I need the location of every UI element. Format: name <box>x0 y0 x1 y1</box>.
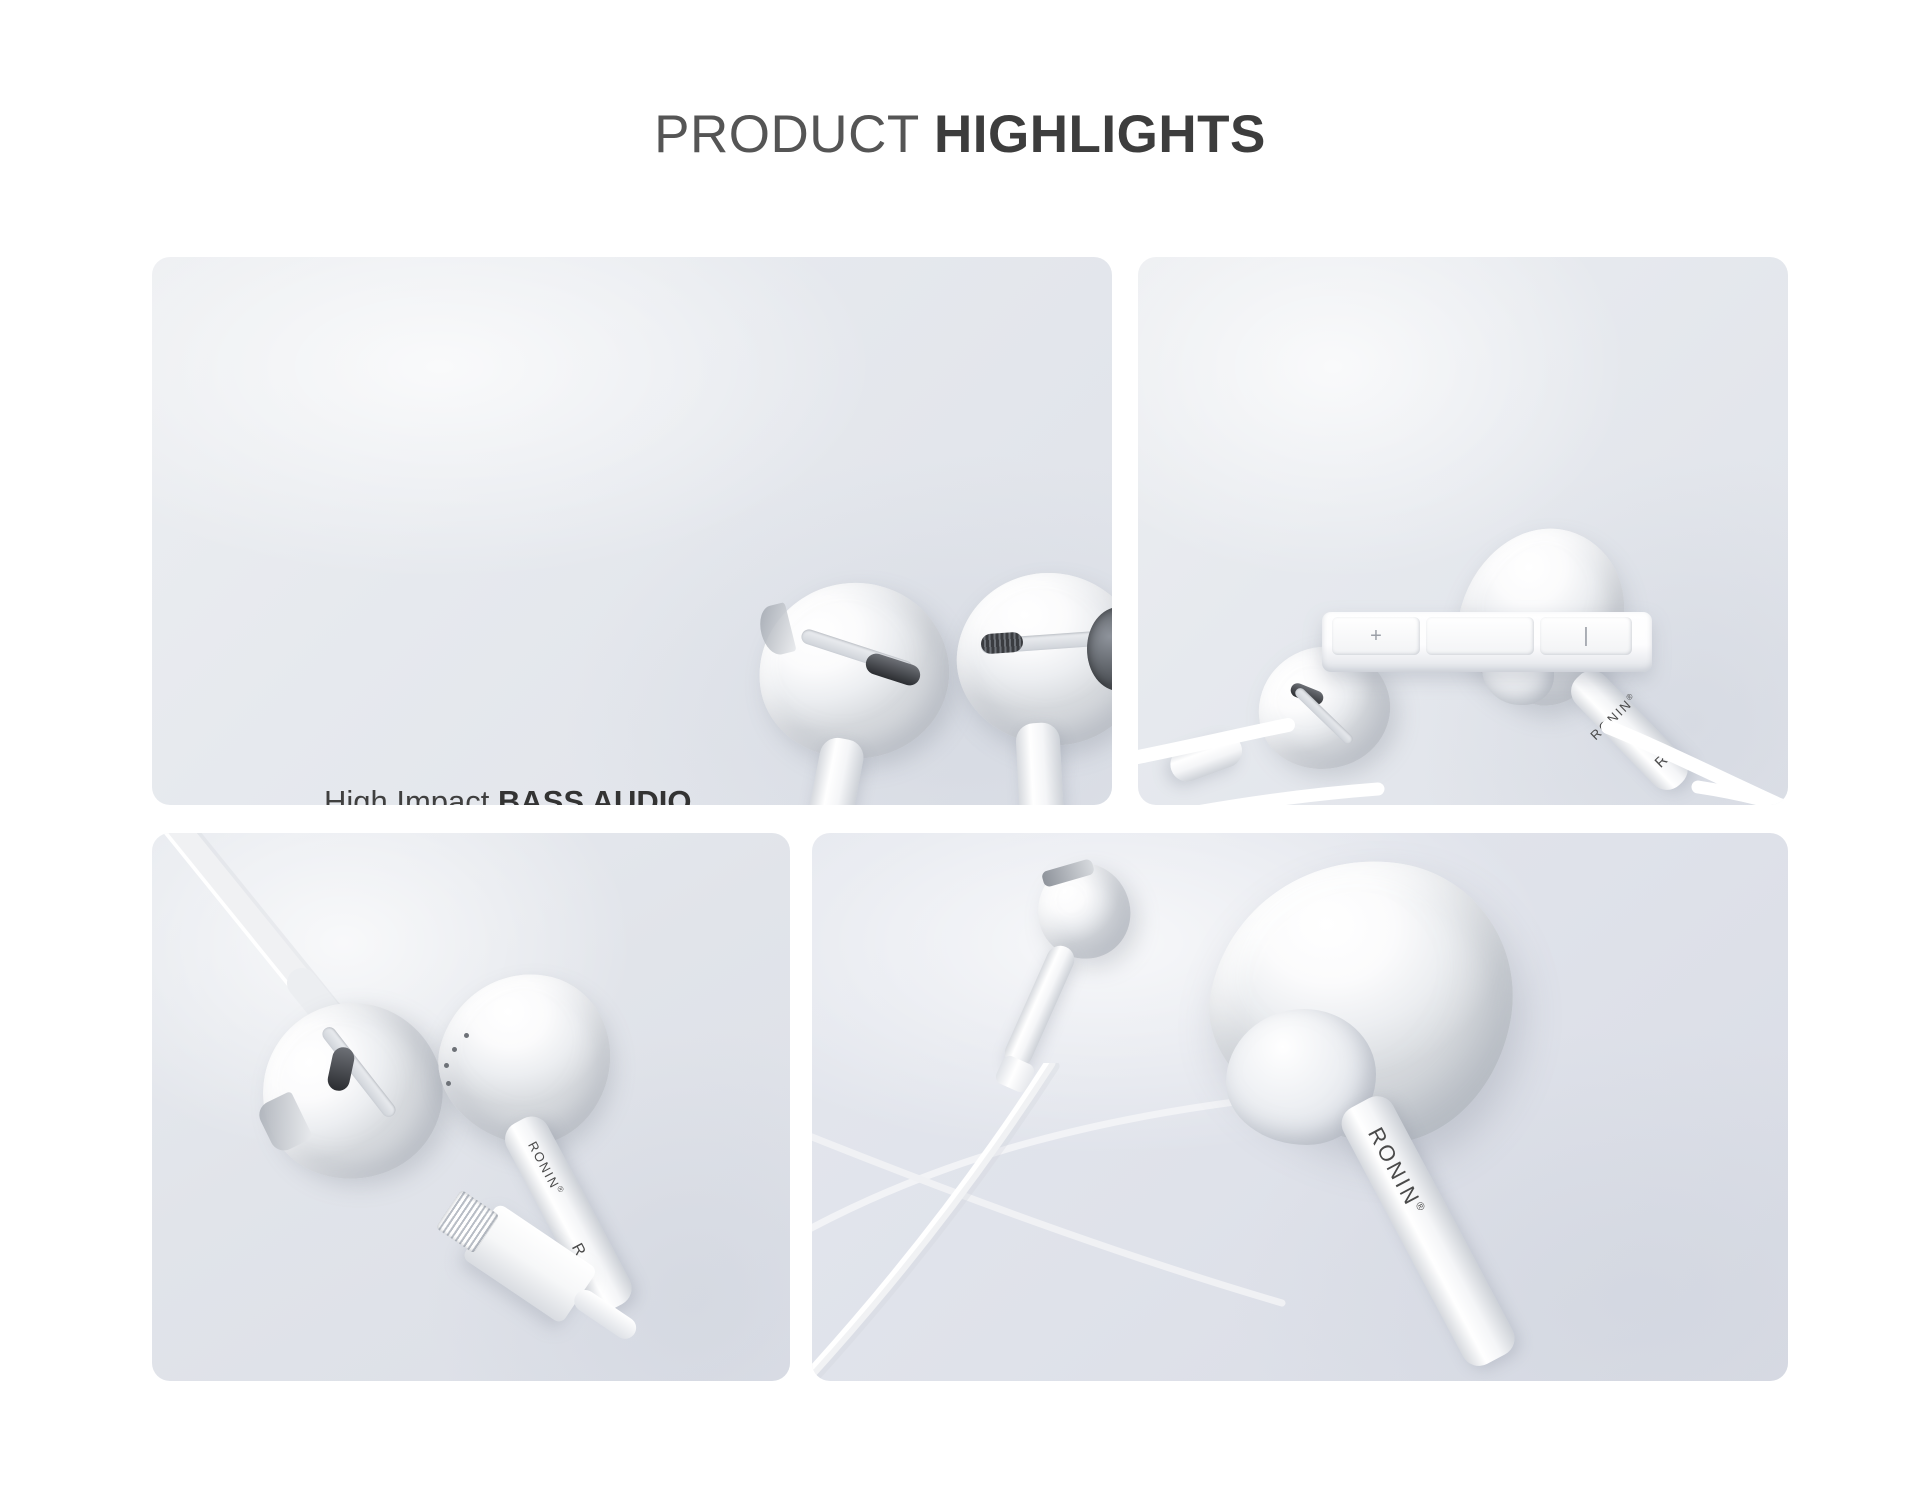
mic-card-earbud-small-stem <box>1166 729 1247 786</box>
mic-card-earbud-small-groove <box>1293 686 1355 746</box>
mic-card-brand-mark: RONIN® <box>1587 690 1641 743</box>
sleek-card-earbud-hero: RONIN® <box>1152 859 1672 1379</box>
lightning-card-top-cable <box>152 833 492 1133</box>
remote-center-button[interactable] <box>1426 617 1534 655</box>
earbud-right-groove <box>981 631 1100 654</box>
lightning-card-earbud-b-stem <box>499 1110 638 1317</box>
lightning-connector-body <box>462 1203 598 1325</box>
earbud-right-graphic <box>937 573 1112 805</box>
sleek-card-earbud-small-collar <box>993 1053 1036 1094</box>
mic-card-earbud-large-lobe <box>1482 635 1554 705</box>
sleek-card-brand-reg: ® <box>1413 1200 1429 1215</box>
earbud-left-speaker-slot <box>863 651 923 688</box>
lightning-card-channel-mark: R <box>567 1241 588 1260</box>
mic-card-earbud-large-stem <box>1564 663 1696 797</box>
sleek-card-background-cables <box>812 833 1788 1381</box>
lightning-card-brand-mark: RONIN® <box>525 1139 567 1199</box>
mic-card-earbud-small-slot <box>1289 681 1326 707</box>
sleek-card-brand-text: RONIN <box>1363 1123 1425 1211</box>
mic-card-earbud-small <box>1228 647 1488 805</box>
mic-card-brand-text: RONIN <box>1587 696 1635 743</box>
mic-card-earbud-large: RONIN® R <box>1438 527 1768 805</box>
mic-card-earbud-small-head <box>1244 631 1405 785</box>
page-title-bold: HIGHLIGHTS <box>934 105 1266 164</box>
lightning-card-earbud-a-edge <box>255 1091 314 1155</box>
page-title-light: PRODUCT <box>654 105 934 164</box>
remote-volume-up-label: + <box>1370 625 1382 648</box>
lightning-card-earbud-a-head <box>236 976 469 1207</box>
earbud-left-graphic <box>737 583 1037 805</box>
earbud-right-stem <box>1015 722 1069 805</box>
card-sleek-design: RONIN® Sleek and Minimal Design <box>812 833 1788 1381</box>
mic-card-channel-mark: R <box>1652 752 1672 772</box>
bass-audio-text-block: High Impact BASS AUDIO 10mm Sound Driver <box>324 784 684 805</box>
remote-volume-down-label: | <box>1583 625 1588 648</box>
remote-volume-up-button[interactable]: + <box>1332 617 1420 655</box>
lightning-connector-cable <box>570 1286 640 1343</box>
earbud-left-mesh-edge <box>755 602 796 658</box>
earbud-left-groove <box>800 627 915 677</box>
card-inline-mic: RONIN® R + | Easy Controls with in-line … <box>1138 257 1788 805</box>
earbud-right-mesh-grille <box>1087 607 1112 691</box>
remote-volume-down-button[interactable]: | <box>1540 617 1632 655</box>
earbud-left-stem <box>785 735 866 805</box>
sleek-card-earbud-small-edge <box>1041 858 1095 888</box>
sleek-card-earbud-hero-lobe <box>1226 1009 1376 1145</box>
earbud-right-head <box>949 564 1112 755</box>
earbud-left-head <box>748 571 961 772</box>
mic-card-earbud-large-head <box>1441 508 1643 721</box>
lightning-card-earbud-b-head <box>422 955 628 1161</box>
sleek-card-main-cable <box>812 1063 1232 1381</box>
sleek-card-brand-mark: RONIN® <box>1362 1123 1430 1221</box>
sleek-card-earbud-hero-stem <box>1335 1090 1521 1372</box>
sleek-card-earbud-hero-head <box>1190 835 1534 1163</box>
card-bass-audio: High Impact BASS AUDIO 10mm Sound Driver <box>152 257 1112 805</box>
lightning-connector-graphic <box>350 1178 669 1381</box>
lightning-card-earbud-a-slot <box>326 1045 357 1093</box>
mic-card-brand-reg: ® <box>1624 690 1636 702</box>
bass-audio-headline-light: High Impact <box>324 784 498 805</box>
lightning-card-earbud-a-groove <box>320 1024 399 1119</box>
sleek-card-earbud-small <box>1012 863 1192 1143</box>
lightning-card-brand-reg: ® <box>555 1184 567 1195</box>
lightning-card-earbud-a <box>252 993 512 1243</box>
product-highlights-page: PRODUCT HIGHLIGHTS <box>0 0 1920 1502</box>
lightning-connector-contacts <box>436 1190 500 1254</box>
bass-audio-headline-bold: BASS AUDIO <box>498 784 691 805</box>
inline-remote-control: + | <box>1322 612 1652 672</box>
card-lightning-connectivity: RONIN® R Lightning <box>152 833 790 1381</box>
lightning-card-earbud-b: RONIN® R <box>410 973 710 1333</box>
sleek-card-earbud-small-stem <box>1000 941 1078 1071</box>
lightning-card-earbud-b-vent-dots <box>444 1033 502 1093</box>
mic-card-cable-graphic <box>1138 637 1788 805</box>
earbud-right-speaker-slot <box>980 632 1023 655</box>
bass-audio-headline: High Impact BASS AUDIO <box>324 784 684 805</box>
page-title: PRODUCT HIGHLIGHTS <box>0 104 1920 165</box>
sound-waveform-graphic <box>552 575 1112 725</box>
lightning-card-brand-text: RONIN <box>525 1139 563 1192</box>
sleek-card-earbud-small-head <box>1029 854 1139 967</box>
